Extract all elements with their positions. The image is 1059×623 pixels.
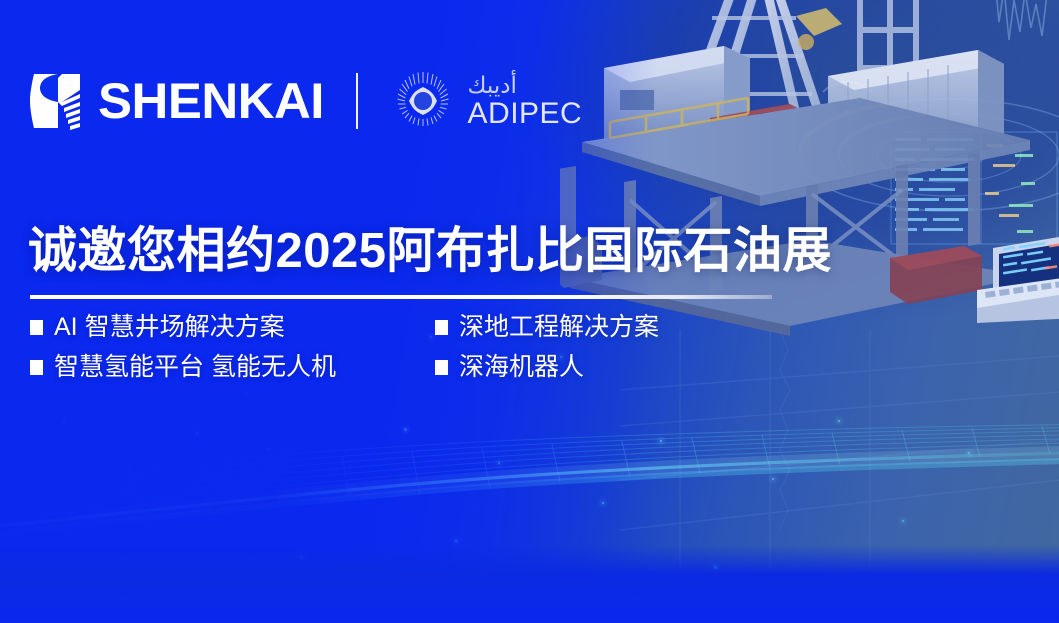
list-item-label: 深海机器人 [459,355,584,380]
shenkai-logo[interactable]: SHENKAI [28,72,320,130]
banner-content: SHENKAI [0,0,1059,623]
feature-row: 智慧氢能平台 氢能无人机 深海机器人 [30,355,730,395]
feature-column-right: 深海机器人 [435,355,584,380]
shenkai-sk-monogram-icon [28,72,84,130]
divider [30,295,772,299]
square-bullet-icon [435,360,448,375]
feature-list: AI 智慧井场解决方案 深地工程解决方案 智慧氢能平台 氢能无人机 [30,315,730,395]
list-item[interactable]: 深海机器人 [435,355,584,380]
adipec-logo[interactable]: أديبك ADIPEC [392,70,583,132]
feature-row: AI 智慧井场解决方案 深地工程解决方案 [30,315,730,355]
vertical-divider-icon [356,73,358,129]
list-item[interactable]: 智慧氢能平台 氢能无人机 [30,355,435,380]
feature-column-left: AI 智慧井场解决方案 [30,315,435,340]
page-title: 诚邀您相约2025阿布扎比国际石油展 [28,224,832,279]
square-bullet-icon [30,320,43,335]
list-item[interactable]: AI 智慧井场解决方案 [30,315,435,340]
promo-banner: SHENKAI [0,0,1059,623]
adipec-latin-name: ADIPEC [468,99,583,129]
square-bullet-icon [435,320,448,335]
adipec-radial-burst-icon [392,70,454,132]
list-item-label: AI 智慧井场解决方案 [54,315,285,340]
adipec-text-lockup: أديبك ADIPEC [468,74,583,129]
list-item[interactable]: 深地工程解决方案 [435,315,659,340]
list-item-label: 智慧氢能平台 氢能无人机 [54,355,336,380]
feature-column-right: 深地工程解决方案 [435,315,659,340]
adipec-arabic-name: أديبك [468,74,583,97]
shenkai-wordmark: SHENKAI [98,76,324,126]
feature-column-left: 智慧氢能平台 氢能无人机 [30,355,435,380]
square-bullet-icon [30,360,43,375]
list-item-label: 深地工程解决方案 [459,315,659,340]
logo-row: SHENKAI [28,63,582,139]
